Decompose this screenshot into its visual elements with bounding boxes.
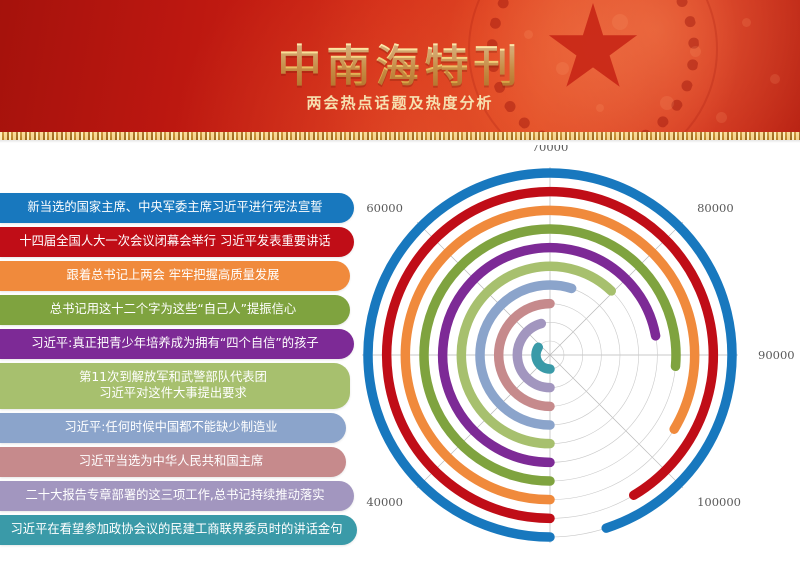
banner-shadow [0,140,800,143]
topic-pill-label: 十四届全国人大一次会议闭幕会举行 习近平发表重要讲话 [19,234,330,250]
topic-legend-list: 新当选的国家主席、中央军委主席习近平进行宪法宣誓十四届全国人大一次会议闭幕会举行… [0,193,345,549]
topic-pill[interactable]: 习近平:真正把青少年培养成为拥有“四个自信”的孩子 [0,329,354,359]
topic-pill-label: 跟着总书记上两会 牢牢把握高质量发展 [67,268,280,284]
topic-pill[interactable]: 新当选的国家主席、中央军委主席习近平进行宪法宣誓 [0,193,354,223]
axis-tick-label: 60000 [366,201,403,215]
axis-tick-label: 100000 [697,495,741,509]
topic-pill[interactable]: 习近平在看望参加政协会议的民建工商联界委员时的讲话金句 [0,515,357,545]
topic-pill[interactable]: 二十大报告专章部署的这三项工作,总书记持续推动落实 [0,481,354,511]
topic-pill[interactable]: 习近平:任何时候中国都不能缺少制造业 [0,413,346,443]
gold-divider [0,132,800,140]
axis-tick-label: 70000 [532,145,569,154]
radial-bar[interactable] [536,347,550,369]
topic-pill[interactable]: 总书记用这十二个字为这些“自己人”提振信心 [0,295,350,325]
bokeh-dot [742,18,751,27]
axis-tick-label: 40000 [366,495,403,509]
page-subtitle: 两会热点话题及热度分析 [0,92,800,113]
topic-pill[interactable]: 第11次到解放军和武警部队代表团 习近平对这件大事提出要求 [0,363,350,409]
topic-pill[interactable]: 习近平当选为中华人民共和国主席 [0,447,346,477]
bokeh-dot [612,14,628,30]
topic-pill-label: 二十大报告专章部署的这三项工作,总书记持续推动落实 [25,488,324,504]
header-banner: 中南海特刊 两会热点话题及热度分析 [0,0,800,132]
topic-pill[interactable]: 十四届全国人大一次会议闭幕会举行 习近平发表重要讲话 [0,227,354,257]
bokeh-dot [716,112,727,123]
topic-pill-label: 新当选的国家主席、中央军委主席习近平进行宪法宣誓 [27,200,322,216]
topic-pill-label: 习近平:任何时候中国都不能缺少制造业 [64,420,277,436]
topic-pill-label: 总书记用这十二个字为这些“自己人”提振信心 [50,302,296,318]
topic-pill[interactable]: 跟着总书记上两会 牢牢把握高质量发展 [0,261,350,291]
topic-pill-label: 习近平在看望参加政协会议的民建工商联界委员时的讲话金句 [10,522,342,538]
topic-pill-label: 习近平:真正把青少年培养成为拥有“四个自信”的孩子 [31,336,318,352]
topic-pill-label: 第11次到解放军和武警部队代表团 习近平对这件大事提出要求 [79,370,267,401]
radial-bar-chart: 400005000060000700008000090000100000 [345,145,800,572]
page-title: 中南海特刊 [0,30,800,94]
page-root: 中南海特刊 两会热点话题及热度分析 新当选的国家主席、中央军委主席习近平进行宪法… [0,0,800,572]
axis-tick-label: 80000 [697,201,734,215]
radial-chart-svg: 400005000060000700008000090000100000 [345,145,800,572]
axis-tick-label: 90000 [758,348,795,362]
topic-pill-label: 习近平当选为中华人民共和国主席 [79,454,263,470]
